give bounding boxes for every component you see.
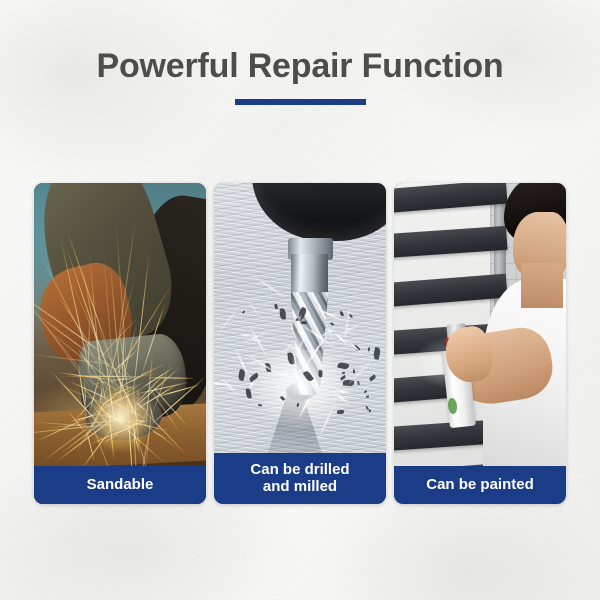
title-underline-bar bbox=[235, 99, 366, 105]
card-label-painted: Can be painted bbox=[394, 466, 566, 504]
header: Powerful Repair Function bbox=[0, 0, 600, 105]
card-label-sandable: Sandable bbox=[34, 466, 206, 504]
feature-cards-row: Sandable Can be drilled and milled bbox=[34, 183, 566, 504]
metal-chip bbox=[342, 372, 346, 374]
card-label-drilled-milled: Can be drilled and milled bbox=[214, 453, 386, 504]
feature-card-sandable[interactable]: Sandable bbox=[34, 183, 206, 504]
page-title: Powerful Repair Function bbox=[0, 46, 600, 86]
feature-card-drilled-milled[interactable]: Can be drilled and milled bbox=[214, 183, 386, 504]
angle-grinder-sparks-photo bbox=[34, 183, 206, 504]
metal-chip bbox=[336, 410, 344, 415]
feature-card-painted[interactable]: Can be painted bbox=[394, 183, 566, 504]
metal-chip bbox=[366, 396, 369, 398]
spray-painting-louvers-photo bbox=[394, 183, 566, 504]
person-neck-shape bbox=[521, 263, 562, 308]
metal-chip bbox=[353, 369, 355, 373]
